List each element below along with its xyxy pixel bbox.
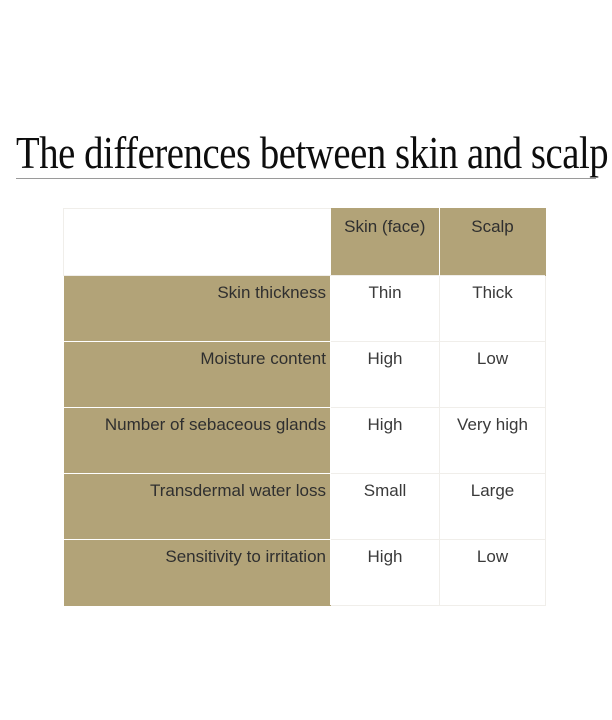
cell-sebaceous-glands-scalp: Very high — [440, 408, 546, 474]
table-row: Transdermal water loss Small Large — [64, 474, 546, 540]
cell-moisture-content-scalp: Low — [440, 342, 546, 408]
row-label-skin-thickness: Skin thickness — [64, 276, 331, 342]
cell-moisture-content-skin: High — [331, 342, 440, 408]
cell-sensitivity-to-irritation-scalp: Low — [440, 540, 546, 606]
slide-canvas: { "title": "The differences between skin… — [0, 0, 612, 720]
title-block: The differences between skin and scalp — [16, 128, 596, 178]
cell-sensitivity-to-irritation-skin: High — [331, 540, 440, 606]
title-underline-rule — [16, 178, 596, 179]
row-label-transdermal-water-loss: Transdermal water loss — [64, 474, 331, 540]
row-label-sebaceous-glands: Number of sebaceous glands — [64, 408, 331, 474]
cell-skin-thickness-scalp: Thick — [440, 276, 546, 342]
table-header-row: Skin (face) Scalp — [64, 209, 546, 276]
cell-skin-thickness-skin: Thin — [331, 276, 440, 342]
cell-transdermal-water-loss-skin: Small — [331, 474, 440, 540]
row-label-sensitivity-to-irritation: Sensitivity to irritation — [64, 540, 331, 606]
table-row: Number of sebaceous glands High Very hig… — [64, 408, 546, 474]
comparison-table: Skin (face) Scalp Skin thickness Thin Th… — [63, 208, 546, 606]
column-header-skin: Skin (face) — [331, 209, 440, 276]
column-header-scalp: Scalp — [440, 209, 546, 276]
table-row: Moisture content High Low — [64, 342, 546, 408]
table-corner-cell — [64, 209, 331, 276]
page-title: The differences between skin and scalp — [16, 128, 515, 178]
table-row: Skin thickness Thin Thick — [64, 276, 546, 342]
row-label-moisture-content: Moisture content — [64, 342, 331, 408]
table-row: Sensitivity to irritation High Low — [64, 540, 546, 606]
cell-transdermal-water-loss-scalp: Large — [440, 474, 546, 540]
cell-sebaceous-glands-skin: High — [331, 408, 440, 474]
